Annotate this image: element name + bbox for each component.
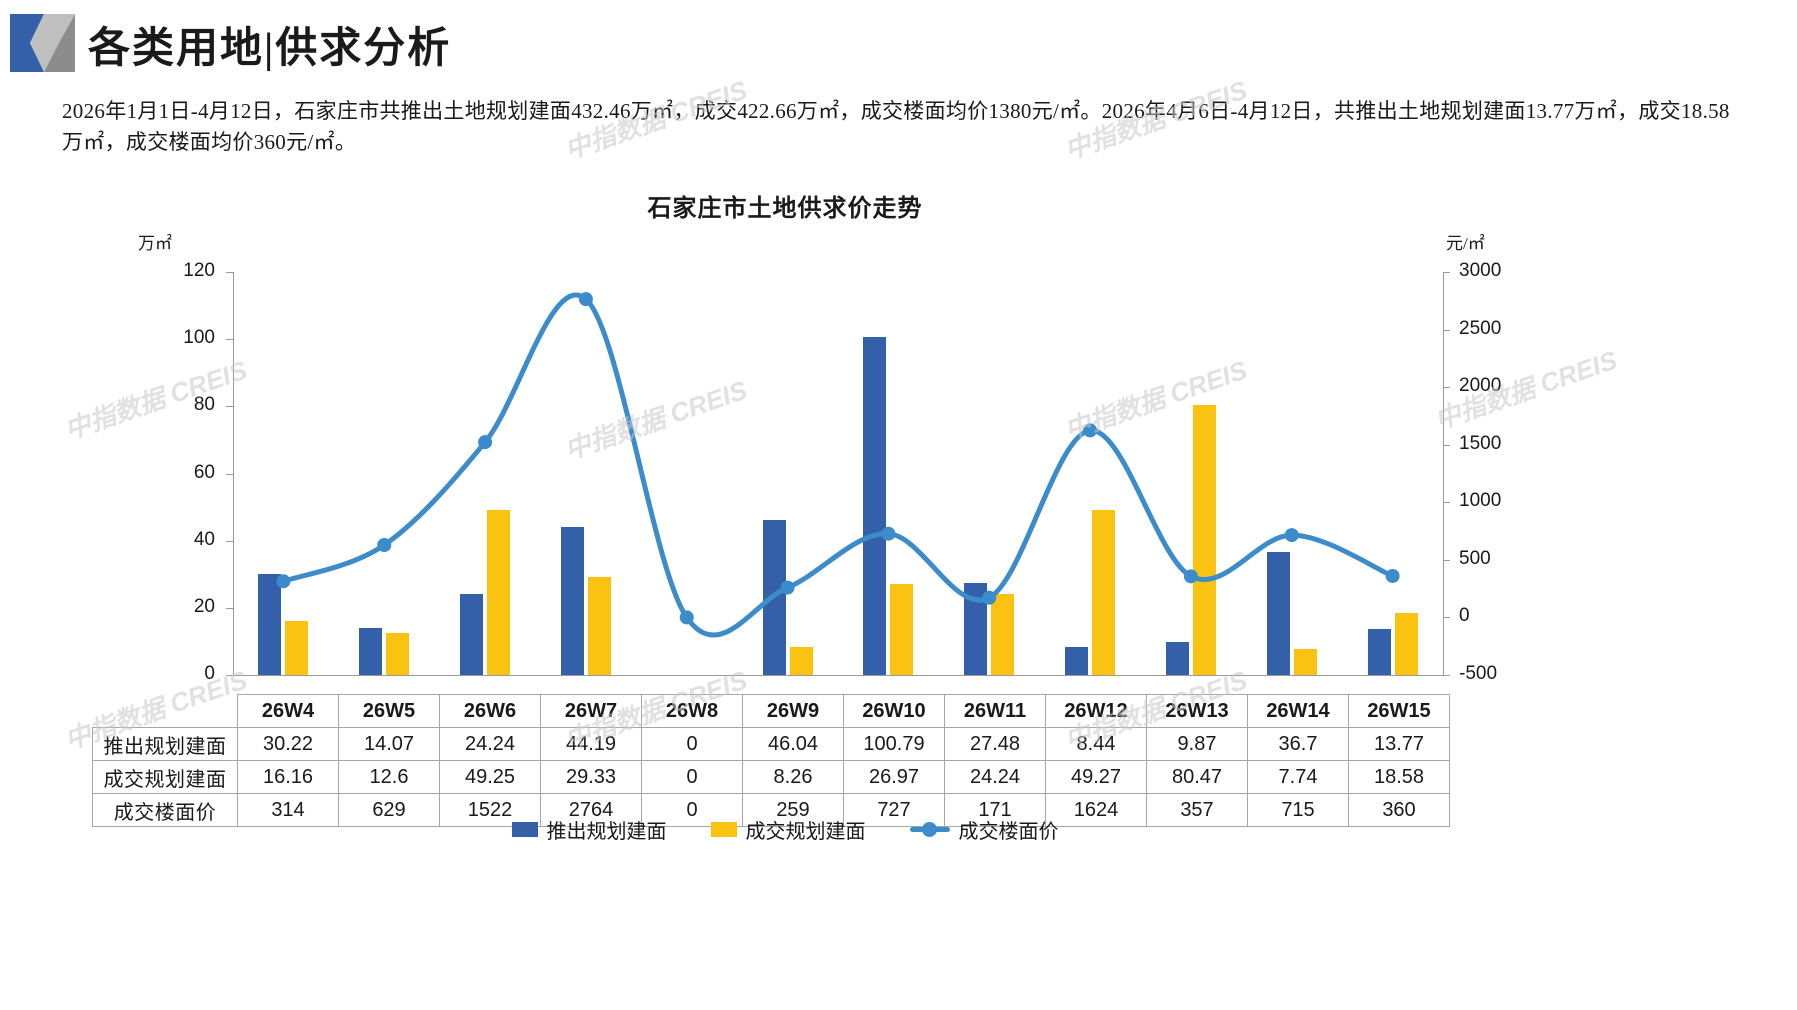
- right-axis-tick: [1443, 502, 1450, 503]
- price-point-26W8: [680, 610, 694, 624]
- table-cell: 12.6: [339, 761, 440, 794]
- legend-label: 成交规划建面: [746, 815, 866, 844]
- legend-label: 成交楼面价: [959, 815, 1059, 844]
- table-cell: 100.79: [844, 728, 945, 761]
- bar-supply-26W7: [561, 527, 584, 675]
- table-cell: 27.48: [945, 728, 1046, 761]
- table-cell: 46.04: [743, 728, 844, 761]
- left-axis-label: 120: [149, 260, 215, 282]
- table-cell: 24.24: [440, 728, 541, 761]
- price-point-26W6: [478, 435, 492, 449]
- left-axis-label: 100: [149, 327, 215, 349]
- legend-item-3[interactable]: 成交楼面价: [910, 815, 1059, 844]
- table-week-header: 26W11: [945, 695, 1046, 728]
- legend-line-dot-icon: [910, 827, 950, 832]
- table-week-header: 26W8: [642, 695, 743, 728]
- table-cell: 24.24: [945, 761, 1046, 794]
- data-table: 26W426W526W626W726W826W926W1026W1126W122…: [92, 694, 1450, 827]
- legend-item-1[interactable]: 推出规划建面: [512, 815, 667, 844]
- table-week-header: 26W13: [1147, 695, 1248, 728]
- left-axis-tick: [226, 272, 233, 273]
- table-cell: 44.19: [541, 728, 642, 761]
- legend-square-icon: [711, 822, 737, 837]
- bar-deal-26W5: [386, 633, 409, 675]
- bar-supply-26W6: [460, 594, 483, 675]
- table-corner-cell: [93, 695, 238, 728]
- table-week-header: 26W5: [339, 695, 440, 728]
- bar-deal-26W11: [991, 594, 1014, 675]
- table-cell: 36.7: [1248, 728, 1349, 761]
- right-axis-tick: [1443, 272, 1450, 273]
- table-cell: 9.87: [1147, 728, 1248, 761]
- table-cell: 80.47: [1147, 761, 1248, 794]
- bar-supply-26W11: [964, 583, 987, 675]
- bar-deal-26W12: [1092, 510, 1115, 675]
- right-axis-tick: [1443, 560, 1450, 561]
- x-axis-baseline: [233, 675, 1443, 676]
- table-cell: 49.27: [1046, 761, 1147, 794]
- bar-deal-26W10: [890, 584, 913, 675]
- bar-supply-26W4: [258, 574, 281, 675]
- right-axis-label: 0: [1459, 605, 1539, 627]
- right-axis-label: 500: [1459, 548, 1539, 570]
- right-axis-tick: [1443, 675, 1450, 676]
- table-cell: 29.33: [541, 761, 642, 794]
- bar-deal-26W9: [790, 647, 813, 675]
- left-axis-tick: [226, 339, 233, 340]
- table-cell: 0: [642, 728, 743, 761]
- right-axis-label: 3000: [1459, 260, 1539, 282]
- chart-legend: 推出规划建面成交规划建面成交楼面价: [0, 815, 1570, 844]
- bar-deal-26W15: [1395, 613, 1418, 675]
- table-cell: 8.26: [743, 761, 844, 794]
- table-cell: 18.58: [1349, 761, 1450, 794]
- table-row-label: 成交规划建面: [93, 761, 238, 794]
- right-axis-label: 1000: [1459, 490, 1539, 512]
- legend-square-icon: [512, 822, 538, 837]
- right-axis-label: 2000: [1459, 375, 1539, 397]
- bar-deal-26W13: [1193, 405, 1216, 675]
- price-point-26W12: [1083, 423, 1097, 437]
- table-header-row: 26W426W526W626W726W826W926W1026W1126W122…: [93, 695, 1450, 728]
- bar-supply-26W9: [763, 520, 786, 675]
- right-axis-label: 1500: [1459, 433, 1539, 455]
- table-cell: 7.74: [1248, 761, 1349, 794]
- right-axis-tick: [1443, 617, 1450, 618]
- right-axis-line: [1443, 272, 1444, 675]
- table-row-label: 推出规划建面: [93, 728, 238, 761]
- table-row: 成交规划建面16.1612.649.2529.3308.2626.9724.24…: [93, 761, 1450, 794]
- table-cell: 0: [642, 761, 743, 794]
- table-cell: 49.25: [440, 761, 541, 794]
- left-axis-label: 40: [149, 529, 215, 551]
- table-row: 推出规划建面30.2214.0724.2444.19046.04100.7927…: [93, 728, 1450, 761]
- table-cell: 14.07: [339, 728, 440, 761]
- legend-label: 推出规划建面: [547, 815, 667, 844]
- right-axis-label: -500: [1459, 663, 1539, 685]
- bar-supply-26W15: [1368, 629, 1391, 675]
- left-axis-label: 0: [149, 663, 215, 685]
- legend-item-2[interactable]: 成交规划建面: [711, 815, 866, 844]
- bar-supply-26W13: [1166, 642, 1189, 675]
- table-cell: 30.22: [238, 728, 339, 761]
- right-axis-tick: [1443, 387, 1450, 388]
- bar-deal-26W7: [588, 577, 611, 675]
- left-axis-label: 80: [149, 394, 215, 416]
- right-axis-tick: [1443, 330, 1450, 331]
- table-week-header: 26W6: [440, 695, 541, 728]
- chart-plot-area: 120100806040200300025002000150010005000-…: [0, 0, 1797, 1010]
- table-week-header: 26W7: [541, 695, 642, 728]
- bar-deal-26W4: [285, 621, 308, 675]
- left-axis-tick: [226, 608, 233, 609]
- table-cell: 16.16: [238, 761, 339, 794]
- price-point-26W14: [1285, 528, 1299, 542]
- table-week-header: 26W12: [1046, 695, 1147, 728]
- left-axis-tick: [226, 675, 233, 676]
- table-week-header: 26W9: [743, 695, 844, 728]
- table-cell: 13.77: [1349, 728, 1450, 761]
- table-week-header: 26W14: [1248, 695, 1349, 728]
- left-axis-label: 20: [149, 596, 215, 618]
- price-point-26W15: [1386, 569, 1400, 583]
- right-axis-tick: [1443, 445, 1450, 446]
- table-week-header: 26W15: [1349, 695, 1450, 728]
- table-week-header: 26W4: [238, 695, 339, 728]
- bar-supply-26W10: [863, 337, 886, 675]
- price-point-26W7: [579, 292, 593, 306]
- bar-deal-26W6: [487, 510, 510, 675]
- table-week-header: 26W10: [844, 695, 945, 728]
- left-axis-line: [233, 272, 234, 675]
- table-cell: 8.44: [1046, 728, 1147, 761]
- left-axis-tick: [226, 541, 233, 542]
- left-axis-label: 60: [149, 462, 215, 484]
- left-axis-tick: [226, 474, 233, 475]
- bar-supply-26W14: [1267, 552, 1290, 675]
- price-point-26W5: [377, 538, 391, 552]
- bar-supply-26W12: [1065, 647, 1088, 675]
- left-axis-tick: [226, 406, 233, 407]
- price-line-path: [283, 295, 1392, 635]
- table-cell: 26.97: [844, 761, 945, 794]
- bar-deal-26W14: [1294, 649, 1317, 675]
- right-axis-label: 2500: [1459, 318, 1539, 340]
- bar-supply-26W5: [359, 628, 382, 675]
